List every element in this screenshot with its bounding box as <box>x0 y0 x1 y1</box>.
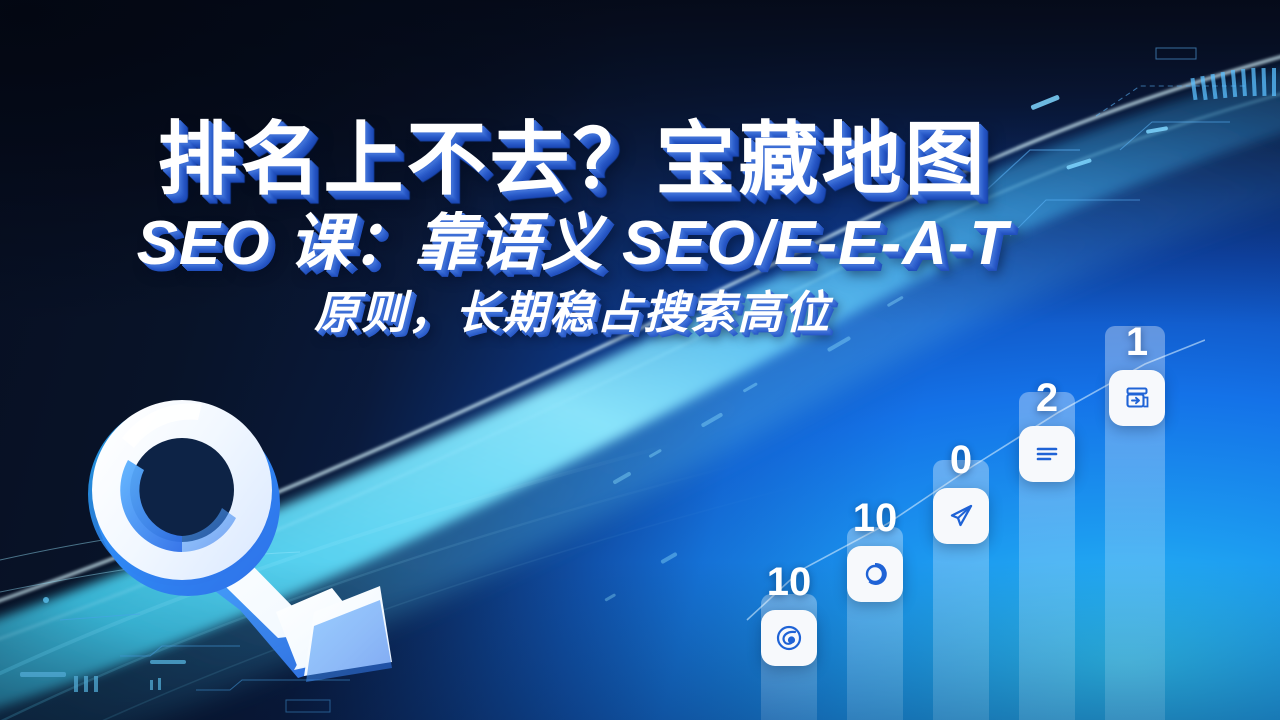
bar-chart: 10 10 0 2 1 <box>735 300 1205 720</box>
icon-tile-3[interactable] <box>933 488 989 544</box>
bar-value-3: 0 <box>933 440 989 480</box>
spiral-eye-icon <box>774 623 804 653</box>
ring-circle-icon <box>860 559 890 589</box>
paper-plane-icon <box>946 501 976 531</box>
bar-value-4: 2 <box>1019 378 1075 418</box>
icon-tile-4[interactable] <box>1019 426 1075 482</box>
text-lines-icon <box>1032 439 1062 469</box>
page-title-line3: 原则，长期稳占搜索高位 <box>0 289 1145 337</box>
page-title-line1: 排名上不去？宝藏地图 <box>0 118 1145 203</box>
folder-edit-icon <box>1122 383 1152 413</box>
bar-value-2: 10 <box>847 498 903 538</box>
title-block: 排名上不去？宝藏地图 SEO 课：靠语义 SEO/E-E-A-T 原则，长期稳占… <box>0 118 1145 336</box>
search-magnifier-arrow-icon <box>62 386 402 686</box>
icon-tile-1[interactable] <box>761 610 817 666</box>
page-title-line2: SEO 课：靠语义 SEO/E-E-A-T <box>0 211 1145 277</box>
bar-value-1: 10 <box>761 562 817 602</box>
icon-tile-5[interactable] <box>1109 370 1165 426</box>
icon-tile-2[interactable] <box>847 546 903 602</box>
poster-canvas: 排名上不去？宝藏地图 SEO 课：靠语义 SEO/E-E-A-T 原则，长期稳占… <box>0 0 1280 720</box>
